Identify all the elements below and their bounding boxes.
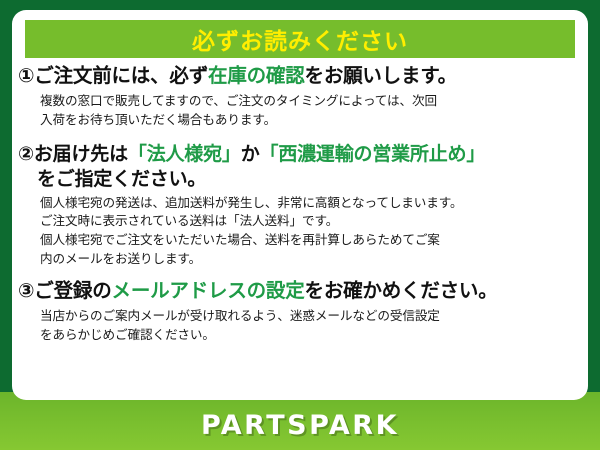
title-banner: 必ずお読みください [25,20,575,58]
notice-item-body: 当店からのご案内メールが受け取れるよう、迷惑メールなどの受信設定 をあらかじめご… [18,304,582,344]
notice-items-list: ①ご注文前には、必ず在庫の確認をお願いします。複数の窓口で販売してますので、ご注… [12,64,588,345]
notice-item-body: 複数の窓口で販売してますので、ご注文のタイミングによっては、次回 入荷をお待ち頂… [18,89,582,129]
notice-item-body: 個人様宅宛の発送は、追加送料が発生し、非常に高額となってしまいます。 ご注文時に… [18,191,582,269]
highlighted-phrase: メールアドレスの設定 [112,279,305,302]
notice-card: 必ずお読みください ①ご注文前には、必ず在庫の確認をお願いします。複数の窓口で販… [0,0,600,450]
heading-text: をお確かめください。 [305,279,498,302]
notice-item-heading-line2: をご指定ください。 [18,167,582,191]
notice-item-heading: ①ご注文前には、必ず在庫の確認をお願いします。 [18,64,582,89]
highlighted-phrase: 「法人様宛」 [128,143,241,165]
highlighted-phrase: 「西濃運輸の営業所止め」 [260,143,486,165]
heading-text: か [241,143,260,165]
notice-item-heading: ②お届け先は「法人様宛」か「西濃運輸の営業所止め」をご指定ください。 [18,142,582,191]
notice-item-2: ②お届け先は「法人様宛」か「西濃運輸の営業所止め」をご指定ください。個人様宅宛の… [12,142,588,268]
page-title: 必ずお読みください [192,22,408,56]
notice-item-heading: ③ご登録のメールアドレスの設定をお確かめください。 [18,279,582,304]
brand-logo: PARTSPARK [0,410,600,441]
notice-item-1: ①ご注文前には、必ず在庫の確認をお願いします。複数の窓口で販売してますので、ご注… [12,64,588,129]
heading-text: ①ご注文前には、必ず [18,64,208,87]
heading-text: をお願いします。 [305,64,457,87]
highlighted-phrase: 在庫の確認 [208,64,305,87]
heading-text: ③ご登録の [18,279,112,302]
notice-item-3: ③ご登録のメールアドレスの設定をお確かめください。当店からのご案内メールが受け取… [12,279,588,344]
heading-text: ②お届け先は [18,143,128,165]
content-card: 必ずお読みください ①ご注文前には、必ず在庫の確認をお願いします。複数の窓口で販… [12,10,588,400]
